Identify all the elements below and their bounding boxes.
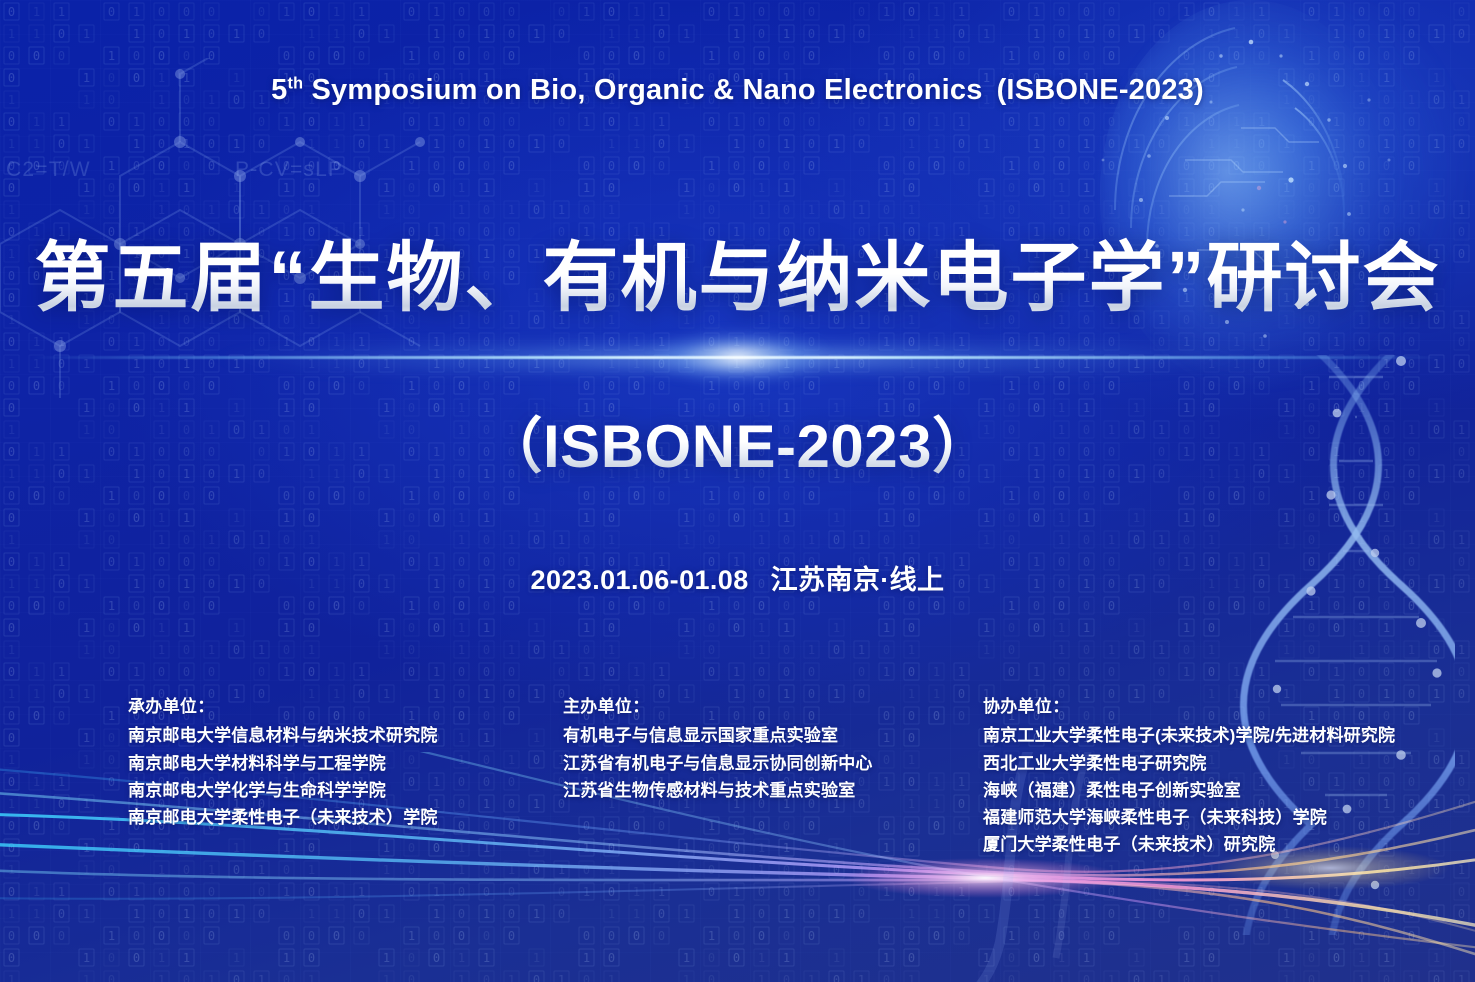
organizer-column-sponsors: 主办单位： 有机电子与信息显示国家重点实验室 江苏省有机电子与信息显示协同创新中… — [563, 694, 873, 804]
organizer-column-co-organizers: 协办单位： 南京工业大学柔性电子(未来技术)学院/先进材料研究院 西北工业大学柔… — [983, 694, 1395, 858]
organizer-item: 江苏省生物传感材料与技术重点实验室 — [563, 777, 873, 804]
english-title: 5th Symposium on Bio, Organic & Nano Ele… — [0, 74, 1475, 107]
organizer-item: 南京邮电大学柔性电子（未来技术）学院 — [128, 804, 438, 831]
organizer-column-hosts: 承办单位： 南京邮电大学信息材料与纳米技术研究院 南京邮电大学材料科学与工程学院… — [128, 694, 438, 831]
english-acronym: (ISBONE-2023) — [997, 74, 1204, 106]
organizer-item: 有机电子与信息显示国家重点实验室 — [563, 722, 873, 749]
organizer-item: 西北工业大学柔性电子研究院 — [983, 750, 1395, 777]
event-location: 江苏南京·线上 — [771, 565, 945, 595]
organizer-heading: 主办单位： — [563, 694, 873, 720]
acronym-title: （ISBONE-2023） — [0, 398, 1475, 485]
organizer-item: 南京邮电大学化学与生命科学学院 — [128, 777, 438, 804]
ordinal-suffix: th — [287, 74, 303, 92]
organizer-heading: 承办单位： — [128, 694, 438, 720]
organizer-item: 厦门大学柔性电子（未来技术）研究院 — [983, 831, 1395, 858]
organizer-item: 南京工业大学柔性电子(未来技术)学院/先进材料研究院 — [983, 722, 1395, 749]
organizer-item: 江苏省有机电子与信息显示协同创新中心 — [563, 750, 873, 777]
organizer-columns: 承办单位： 南京邮电大学信息材料与纳米技术研究院 南京邮电大学材料科学与工程学院… — [0, 694, 1475, 869]
page-title: 第五届“生物、有机与纳米电子学”研讨会 — [0, 216, 1475, 326]
organizer-item: 福建师范大学海峡柔性电子（未来科技）学院 — [983, 804, 1395, 831]
conference-poster: C2=T/W P-CV=sLP — [0, 0, 1475, 982]
organizer-item: 南京邮电大学材料科学与工程学院 — [128, 750, 438, 777]
organizer-item: 南京邮电大学信息材料与纳米技术研究院 — [128, 722, 438, 749]
event-dates: 2023.01.06-01.08 — [531, 565, 749, 595]
english-title-text: Symposium on Bio, Organic & Nano Electro… — [311, 74, 982, 106]
organizer-item: 海峡（福建）柔性电子创新实验室 — [983, 777, 1395, 804]
ordinal-number: 5 — [271, 74, 287, 106]
organizer-heading: 协办单位： — [983, 694, 1395, 720]
event-date-location: 2023.01.06-01.08江苏南京·线上 — [0, 558, 1475, 597]
